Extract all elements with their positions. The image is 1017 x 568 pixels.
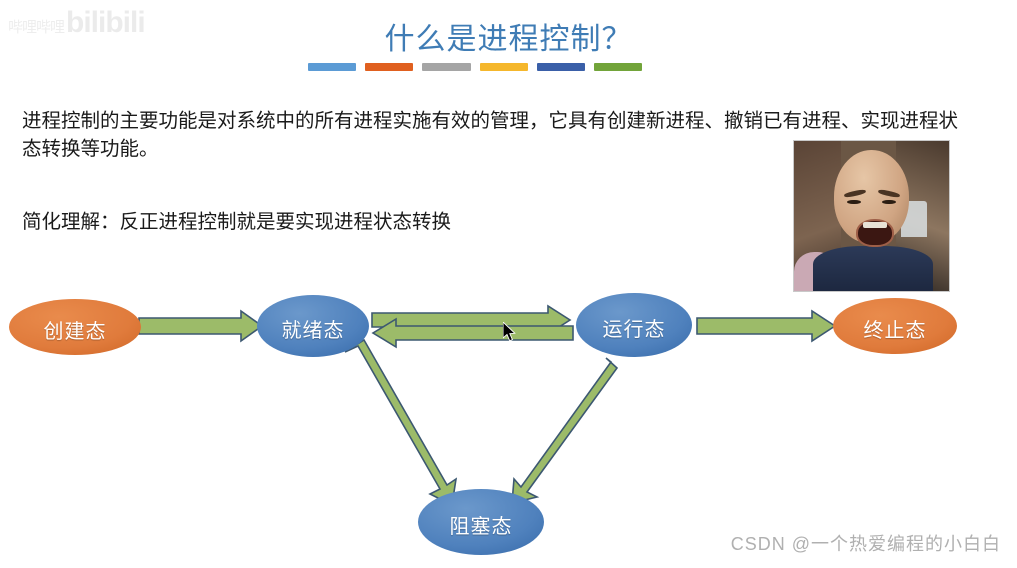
title-bar-green — [594, 63, 642, 71]
title-underline-bars — [308, 63, 642, 71]
title-bar-light-blue — [308, 63, 356, 71]
photo-shirt — [813, 246, 934, 291]
photo-eye-right — [882, 200, 896, 205]
edge-ready-to-running — [372, 306, 570, 334]
edge-running-to-ready — [373, 319, 573, 347]
mouse-cursor — [503, 322, 517, 342]
edge-blocked-to-ready — [345, 340, 456, 505]
node-blocked-label: 阻塞态 — [418, 510, 544, 539]
body-paragraph-note: 简化理解：反正进程控制就是要实现进程状态转换 — [22, 209, 622, 237]
title-bar-orange — [365, 63, 413, 71]
node-blocked[interactable] — [418, 489, 544, 555]
node-terminated-label: 终止态 — [833, 314, 957, 343]
node-running-label: 运行态 — [576, 313, 692, 342]
meme-photo — [793, 140, 950, 292]
csdn-watermark: CSDN @一个热爱编程的小白白 — [731, 530, 1001, 556]
node-running[interactable] — [576, 293, 692, 357]
page-title: 什么是进程控制？ — [0, 14, 1017, 58]
photo-eye-left — [847, 200, 861, 205]
node-ready-label: 就绪态 — [257, 314, 369, 343]
title-bar-gray — [422, 63, 470, 71]
edge-running-to-terminated — [697, 311, 835, 341]
title-bar-gold — [480, 63, 528, 71]
node-terminated[interactable] — [833, 298, 957, 354]
node-created[interactable] — [9, 299, 141, 355]
node-created-label: 创建态 — [9, 315, 141, 344]
slide-canvas: 哔哩哔哩 bilibili 什么是进程控制？ 进程控制的主要功能是对系统中的所有… — [0, 0, 1017, 568]
node-ready[interactable] — [257, 295, 369, 357]
photo-mouth — [856, 219, 894, 247]
edge-created-to-ready — [139, 311, 262, 341]
title-bar-dark-blue — [537, 63, 585, 71]
edge-running-to-blocked — [512, 358, 617, 503]
